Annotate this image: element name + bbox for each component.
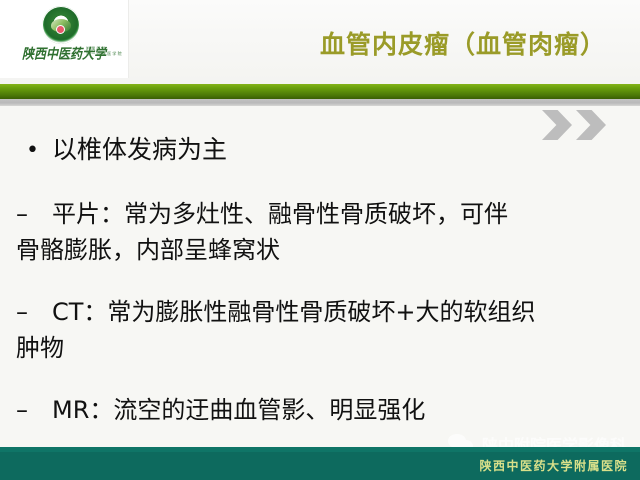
list-item: •以椎体发病为主 xyxy=(26,130,227,166)
header-gray-rule xyxy=(0,99,640,106)
dash-marker: – xyxy=(16,396,52,424)
logo-subtext: 附 属 医 院 第 一 临 床 医 学 院 xyxy=(86,46,128,56)
list-item-text: MR：流空的迂曲血管影、明显强化 xyxy=(52,396,425,424)
list-item-continuation: 肿物 xyxy=(16,328,64,363)
list-item-text: CT：常为膨胀性融骨性骨质破坏+大的软组织 xyxy=(52,298,536,326)
slide-header: 陕西中医药大学 附 属 医 院 第 一 临 床 医 学 院 血管内皮瘤（血管肉瘤… xyxy=(0,0,640,84)
presentation-slide: 陕西中医药大学 附 属 医 院 第 一 临 床 医 学 院 血管内皮瘤（血管肉瘤… xyxy=(0,0,640,480)
logo-subtext-line2: 第 一 临 床 医 学 院 xyxy=(86,51,128,56)
university-seal-icon xyxy=(42,6,80,44)
dash-marker: – xyxy=(16,298,52,326)
header-green-rule xyxy=(0,84,640,99)
bullet-marker: • xyxy=(26,138,52,163)
list-item: –CT：常为膨胀性融骨性骨质破坏+大的软组织 xyxy=(16,292,536,327)
logo-panel: 陕西中医药大学 附 属 医 院 第 一 临 床 医 学 院 xyxy=(0,0,129,78)
list-item-text: 平片：常为多灶性、融骨性骨质破坏，可伴 xyxy=(52,200,508,228)
dash-marker: – xyxy=(16,200,52,228)
slide-body: •以椎体发病为主 –平片：常为多灶性、融骨性骨质破坏，可伴 骨骼膨胀，内部呈蜂窝… xyxy=(0,106,640,442)
footer-institution-label: 陕西中医药大学附属医院 xyxy=(479,457,628,474)
list-item-text: 以椎体发病为主 xyxy=(52,135,227,164)
page-title: 血管内皮瘤（血管肉瘤） xyxy=(320,25,606,61)
list-item: –平片：常为多灶性、融骨性骨质破坏，可伴 xyxy=(16,194,508,229)
list-item: –MR：流空的迂曲血管影、明显强化 xyxy=(16,390,425,425)
list-item-continuation: 骨骼膨胀，内部呈蜂窝状 xyxy=(16,230,280,265)
